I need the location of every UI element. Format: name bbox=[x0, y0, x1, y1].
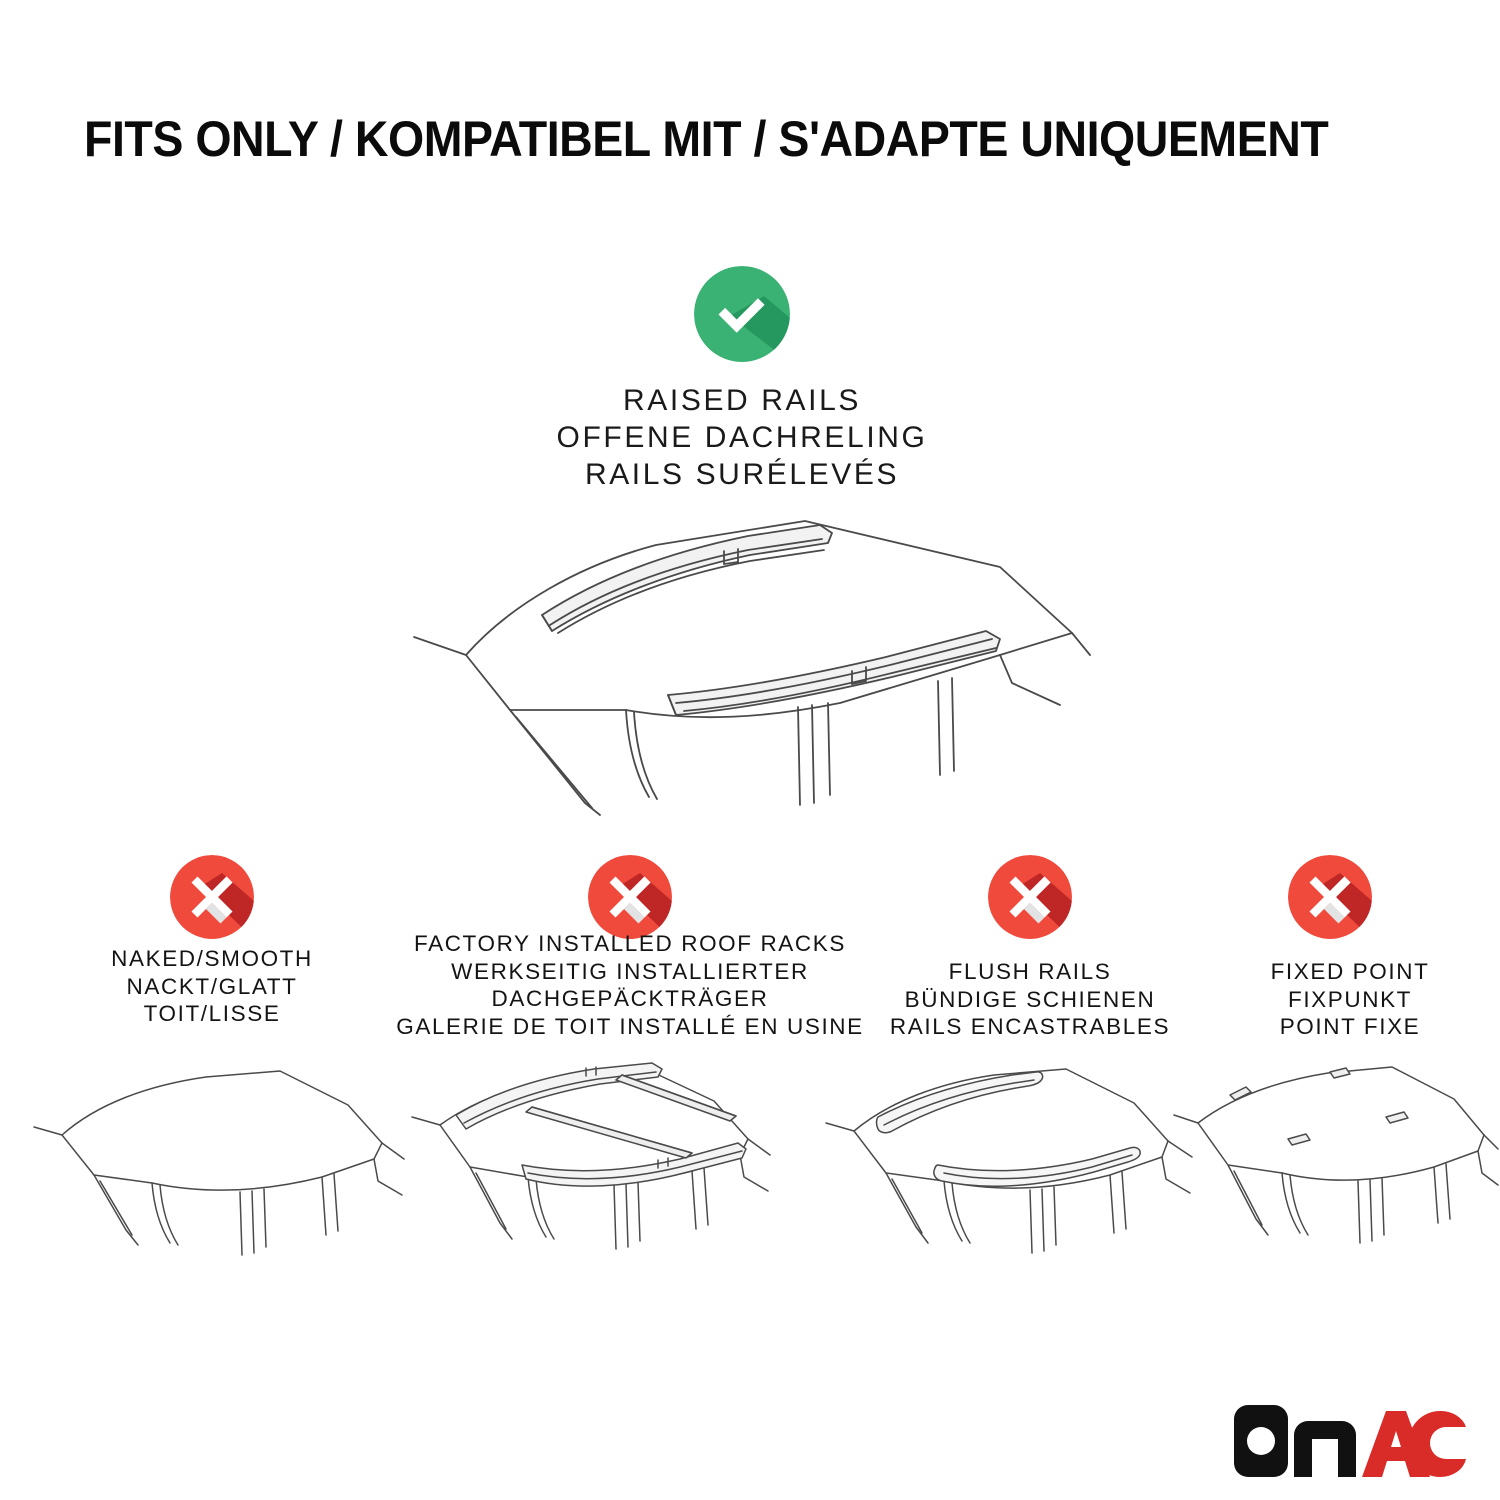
page-title: FITS ONLY / KOMPATIBEL MIT / S'ADAPTE UN… bbox=[84, 108, 1330, 170]
caption-line-de-1: WERKSEITIG INSTALLIERTER bbox=[390, 958, 870, 986]
caption-line-de-2: DACHGEPÄCKTRÄGER bbox=[390, 985, 870, 1013]
caption-line-fr: POINT FIXE bbox=[1200, 1013, 1500, 1041]
x-circle-icon bbox=[170, 855, 254, 939]
x-circle-icon bbox=[1288, 855, 1372, 939]
caption-line-fr: GALERIE DE TOIT INSTALLÉ EN USINE bbox=[390, 1013, 870, 1041]
incompatible-caption-fixed-point: FIXED POINT FIXPUNKT POINT FIXE bbox=[1200, 958, 1500, 1041]
compatible-caption: RAISED RAILS OFFENE DACHRELING RAILS SUR… bbox=[392, 382, 1092, 493]
car-roof-naked-smooth-illustration bbox=[30, 1055, 410, 1295]
caption-line-en: RAISED RAILS bbox=[392, 382, 1092, 419]
caption-line-fr: RAILS SURÉLEVÉS bbox=[392, 456, 1092, 493]
caption-line-en: FIXED POINT bbox=[1200, 958, 1500, 986]
caption-line-de: FIXPUNKT bbox=[1200, 986, 1500, 1014]
car-roof-flush-rails-illustration bbox=[820, 1055, 1200, 1295]
car-roof-raised-rails-illustration bbox=[400, 505, 1100, 835]
incompatible-caption-flush-rails: FLUSH RAILS BÜNDIGE SCHIENEN RAILS ENCAS… bbox=[845, 958, 1215, 1041]
caption-line-fr: TOIT/LISSE bbox=[32, 1000, 392, 1028]
caption-line-en: NAKED/SMOOTH bbox=[32, 945, 392, 973]
omac-logo bbox=[1234, 1405, 1466, 1477]
incompatible-caption-naked-smooth: NAKED/SMOOTH NACKT/GLATT TOIT/LISSE bbox=[32, 945, 392, 1028]
caption-line-de: NACKT/GLATT bbox=[32, 973, 392, 1001]
caption-line-en: FACTORY INSTALLED ROOF RACKS bbox=[390, 930, 870, 958]
caption-line-de: BÜNDIGE SCHIENEN bbox=[845, 986, 1215, 1014]
x-circle-icon bbox=[588, 855, 672, 939]
caption-line-fr: RAILS ENCASTRABLES bbox=[845, 1013, 1215, 1041]
caption-line-en: FLUSH RAILS bbox=[845, 958, 1215, 986]
car-roof-fixed-point-illustration bbox=[1170, 1055, 1500, 1295]
incompatible-caption-factory-roof-racks: FACTORY INSTALLED ROOF RACKS WERKSEITIG … bbox=[390, 930, 870, 1040]
caption-line-de: OFFENE DACHRELING bbox=[392, 419, 1092, 456]
x-circle-icon bbox=[988, 855, 1072, 939]
logo-letter-o bbox=[1234, 1405, 1288, 1477]
car-roof-factory-roof-racks-illustration bbox=[400, 1055, 780, 1295]
check-circle-icon bbox=[694, 266, 790, 362]
logo-letter-m bbox=[1294, 1421, 1356, 1477]
